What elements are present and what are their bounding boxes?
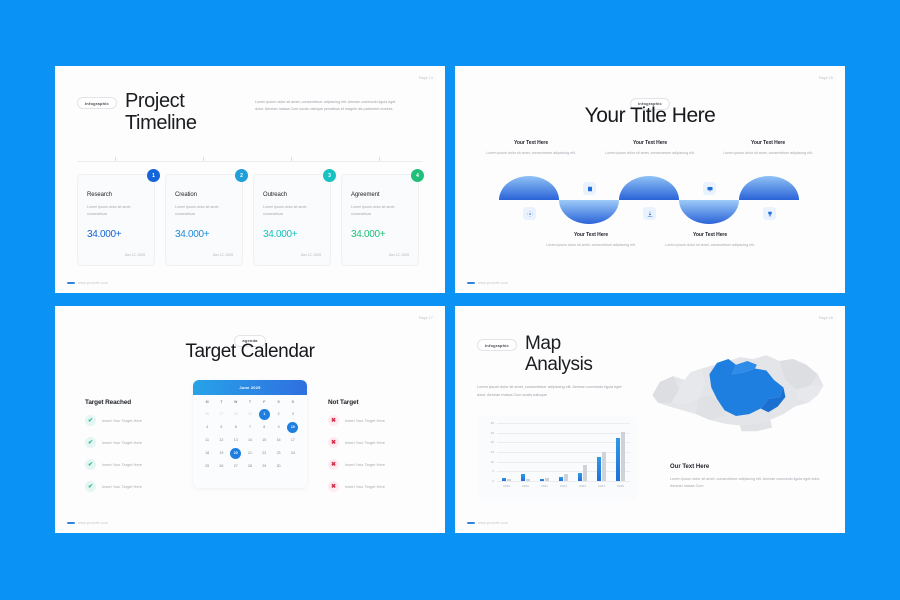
slide-footer: www.yoursite.com xyxy=(67,281,108,285)
check-icon: ✔ xyxy=(85,415,96,426)
calendar-day[interactable]: 22 xyxy=(257,448,271,459)
calendar-widget[interactable]: June 2025 MTWTFSS26272829123456789101112… xyxy=(193,380,307,488)
wave-item-bottom-2: Your Text Here Lorem ipsum dolor sit ame… xyxy=(662,232,758,248)
list-item-label: Insert Your Target Here xyxy=(345,484,385,489)
chart-x-tick-label: 2023 xyxy=(574,484,592,488)
footer-dash-icon xyxy=(67,282,75,284)
footer-dash-icon xyxy=(67,522,75,524)
slide-footer: www.yoursite.com xyxy=(67,521,108,525)
calendar-day-of-week: W xyxy=(229,400,243,407)
monitor-icon[interactable] xyxy=(703,182,716,195)
calendar-day-muted: 28 xyxy=(229,409,243,420)
check-icon: ✔ xyxy=(85,481,96,492)
cross-icon: ✖ xyxy=(328,437,339,448)
calendar-day[interactable]: 29 xyxy=(257,461,271,472)
calendar-day[interactable]: 25 xyxy=(200,461,214,472)
calendar-day[interactable]: 8 xyxy=(257,422,271,433)
calendar-month-label: June 2025 xyxy=(193,380,307,395)
calendar-day[interactable]: 4 xyxy=(200,422,214,433)
card-date: Dec 12, 2025 xyxy=(213,253,233,257)
chart-bar xyxy=(502,478,506,481)
chart-y-tick-label: 15 xyxy=(491,450,494,454)
calendar-day[interactable]: 24 xyxy=(286,448,300,459)
check-icon: ✔ xyxy=(85,437,96,448)
list-item-label: Insert Your Target Here xyxy=(102,440,142,445)
calendar-day-muted: 27 xyxy=(214,409,228,420)
chart-x-tick-label: 2020 xyxy=(517,484,535,488)
calendar-day[interactable]: 30 xyxy=(271,461,285,472)
chart-y-tick-label: 10 xyxy=(491,460,494,464)
calendar-day[interactable]: 23 xyxy=(271,448,285,459)
wave-item-bottom-1: Your Text Here Lorem ipsum dolor sit ame… xyxy=(543,232,639,248)
book-icon[interactable] xyxy=(583,182,596,195)
category-pill: Infographic xyxy=(77,97,117,109)
chart-x-tick-label: 2022 xyxy=(555,484,573,488)
card-date: Dec 12, 2025 xyxy=(301,253,321,257)
cross-icon: ✖ xyxy=(328,481,339,492)
item-heading: Your Text Here xyxy=(720,140,816,146)
chart-y-tick-label: 0 xyxy=(492,479,494,483)
calendar-day-of-week: S xyxy=(286,400,300,407)
calendar-grid[interactable]: MTWTFSS262728291234567891011121314151617… xyxy=(193,395,307,477)
calendar-day-of-week: S xyxy=(271,400,285,407)
calendar-day[interactable]: 21 xyxy=(243,448,257,459)
bar-chart[interactable]: 302520151050 201920202021202220232024202… xyxy=(477,416,637,500)
list-item[interactable]: ✔ Insert Your Target Here xyxy=(85,459,180,470)
chart-bar-group xyxy=(521,423,531,481)
slide-footer: www.yoursite.com xyxy=(467,281,508,285)
chart-bar xyxy=(616,438,620,482)
slide1-header: Infographic Project Timeline xyxy=(77,91,197,134)
calendar-day-selected[interactable]: 1 xyxy=(257,409,271,420)
item-body: Lorem ipsum dolor sit amet, consectetuer… xyxy=(662,242,758,248)
page-title: Target Calendar xyxy=(55,341,445,363)
page-number: Page 18 xyxy=(819,316,833,320)
footer-url: www.yoursite.com xyxy=(478,281,508,285)
intro-paragraph: Lorem ipsum dolor sit amet, consectetuer… xyxy=(477,384,627,399)
chart-bar xyxy=(583,465,587,481)
calendar-day-muted: 29 xyxy=(243,409,257,420)
calendar-day[interactable]: 7 xyxy=(243,422,257,433)
column-heading: Target Reached xyxy=(85,399,180,406)
calendar-day-selected[interactable]: 10 xyxy=(286,422,300,433)
download-icon[interactable] xyxy=(643,207,656,220)
check-icon: ✔ xyxy=(85,459,96,470)
calendar-day[interactable]: 19 xyxy=(214,448,228,459)
timeline-card[interactable]: 4 Agreement Lorem ipsum dolor sit amet, … xyxy=(341,174,419,266)
page-title: Map Analysis xyxy=(525,334,593,376)
category-pill: Infographic xyxy=(477,339,517,351)
calendar-day-of-week: T xyxy=(243,400,257,407)
column-heading: Not Target xyxy=(328,399,423,406)
slide-footer: www.yoursite.com xyxy=(467,521,508,525)
intro-paragraph: Lorem ipsum dolor sit amet, consectetuer… xyxy=(255,99,400,114)
list-item-label: Insert Your Target Here xyxy=(102,484,142,489)
footer-url: www.yoursite.com xyxy=(478,521,508,525)
list-item-label: Insert Your Target Here xyxy=(345,440,385,445)
card-description: Lorem ipsum dolor sit amet, consectetuer xyxy=(263,204,321,217)
card-date: Dec 12, 2025 xyxy=(389,253,409,257)
chart-bar-group xyxy=(578,423,588,481)
calendar-day[interactable]: 15 xyxy=(257,435,271,446)
calendar-day[interactable]: 12 xyxy=(214,435,228,446)
chart-bar-group xyxy=(616,423,626,481)
chart-bar xyxy=(578,473,582,481)
footer-url: www.yoursite.com xyxy=(78,521,108,525)
page-title: Your Title Here xyxy=(455,104,845,128)
item-body: Lorem ipsum dolor sit amet, consectetuer… xyxy=(602,150,698,156)
chart-plot-area: 302520151050 xyxy=(484,423,630,481)
chart-bar-group xyxy=(502,423,512,481)
title-line-2: Timeline xyxy=(125,113,197,135)
cross-icon: ✖ xyxy=(328,415,339,426)
wave-item-top-2: Your Text Here Lorem ipsum dolor sit ame… xyxy=(602,140,698,156)
list-item[interactable]: ✖ Insert Your Target Here xyxy=(328,459,423,470)
calendar-day[interactable]: 18 xyxy=(200,448,214,459)
timeline-card[interactable]: 2 Creation Lorem ipsum dolor sit amet, c… xyxy=(165,174,243,266)
list-item[interactable]: ✖ Insert Your Target Here xyxy=(328,415,423,426)
calendar-day-of-week: F xyxy=(257,400,271,407)
slide-project-timeline[interactable]: Page 14 Infographic Project Timeline Lor… xyxy=(55,66,445,293)
chart-bar xyxy=(521,474,525,481)
title-line-2: Analysis xyxy=(525,355,593,376)
chart-x-tick-label: 2025 xyxy=(612,484,630,488)
switzerland-map[interactable] xyxy=(641,336,831,441)
footer-url: www.yoursite.com xyxy=(78,281,108,285)
calendar-day[interactable]: 5 xyxy=(214,422,228,433)
step-badge: 3 xyxy=(323,169,336,182)
cross-icon: ✖ xyxy=(328,459,339,470)
chart-y-tick-label: 30 xyxy=(491,421,494,425)
title-line-1: Map xyxy=(525,334,593,355)
card-description: Lorem ipsum dolor sit amet, consectetuer xyxy=(351,204,409,217)
chart-y-tick-label: 20 xyxy=(491,440,494,444)
slide4-header: Infographic Map Analysis xyxy=(477,334,593,376)
page-number: Page 17 xyxy=(419,316,433,320)
list-item-label: Insert Your Target Here xyxy=(345,418,385,423)
chart-bar-group xyxy=(597,423,607,481)
step-badge: 4 xyxy=(411,169,424,182)
sub-heading: Our Text Here xyxy=(670,464,709,470)
card-description: Lorem ipsum dolor sit amet, consectetuer xyxy=(87,204,145,217)
chart-bar xyxy=(597,457,601,481)
chart-bar xyxy=(507,479,511,481)
card-metric: 34.000+ xyxy=(87,229,145,240)
calendar-day[interactable]: 6 xyxy=(229,422,243,433)
chart-bar xyxy=(602,452,606,481)
card-title: Outreach xyxy=(263,192,321,198)
page-number: Page 14 xyxy=(419,76,433,80)
calendar-day-muted: 26 xyxy=(200,409,214,420)
chart-x-axis: 2019202020212022202320242025 xyxy=(497,484,630,488)
card-metric: 34.000+ xyxy=(175,229,233,240)
timeline-rule xyxy=(77,161,423,162)
title-line-1: Project xyxy=(125,91,197,113)
chart-x-tick-label: 2021 xyxy=(536,484,554,488)
card-date: Dec 12, 2025 xyxy=(125,253,145,257)
item-body: Lorem ipsum dolor sit amet, consectetuer… xyxy=(720,150,816,156)
list-item-label: Insert Your Target Here xyxy=(102,418,142,423)
list-item[interactable]: ✖ Insert Your Target Here xyxy=(328,481,423,492)
calendar-day[interactable]: 27 xyxy=(229,461,243,472)
item-heading: Your Text Here xyxy=(602,140,698,146)
calendar-day-selected[interactable]: 20 xyxy=(229,448,243,459)
chart-bar-group xyxy=(540,423,550,481)
card-metric: 34.000+ xyxy=(263,229,321,240)
slide-target-calendar[interactable]: Page 17 agenda Target Calendar Target Re… xyxy=(55,306,445,533)
list-item-label: Insert Your Target Here xyxy=(345,462,385,467)
trophy-icon[interactable] xyxy=(763,207,776,220)
calendar-day[interactable]: 2 xyxy=(271,409,285,420)
calendar-day[interactable]: 14 xyxy=(243,435,257,446)
wave-item-top-1: Your Text Here Lorem ipsum dolor sit ame… xyxy=(483,140,579,156)
calendar-day[interactable]: 28 xyxy=(243,461,257,472)
sub-paragraph: Lorem ipsum dolor sit amet, consectetuer… xyxy=(670,476,830,490)
step-badge: 2 xyxy=(235,169,248,182)
card-title: Agreement xyxy=(351,192,409,198)
chart-bar xyxy=(526,479,530,481)
calendar-day[interactable]: 11 xyxy=(200,435,214,446)
page-number: Page 15 xyxy=(819,76,833,80)
card-metric: 34.000+ xyxy=(351,229,409,240)
slide-map-analysis[interactable]: Page 18 Infographic Map Analysis Lorem i… xyxy=(455,306,845,533)
slide-your-title-here[interactable]: Page 15 infographic Your Title Here Your… xyxy=(455,66,845,293)
chart-x-tick-label: 2019 xyxy=(498,484,516,488)
card-title: Research xyxy=(87,192,145,198)
calendar-day[interactable]: 16 xyxy=(271,435,285,446)
calendar-day[interactable]: 3 xyxy=(286,409,300,420)
target-reached-column: Target Reached ✔ Insert Your Target Here… xyxy=(85,399,180,503)
timeline-card[interactable]: 1 Research Lorem ipsum dolor sit amet, c… xyxy=(77,174,155,266)
footer-dash-icon xyxy=(467,282,475,284)
chart-bars xyxy=(497,423,630,481)
calendar-day[interactable]: 13 xyxy=(229,435,243,446)
list-item-label: Insert Your Target Here xyxy=(102,462,142,467)
chart-bar xyxy=(545,478,549,481)
chart-y-axis: 302520151050 xyxy=(484,423,496,481)
chart-gridline xyxy=(497,481,630,482)
step-badge: 1 xyxy=(147,169,160,182)
wave-item-top-3: Your Text Here Lorem ipsum dolor sit ame… xyxy=(720,140,816,156)
slide-deck-preview: Page 14 Infographic Project Timeline Lor… xyxy=(0,0,900,600)
chart-bar xyxy=(559,477,563,481)
settings-icon[interactable] xyxy=(523,207,536,220)
timeline-card-list: 1 Research Lorem ipsum dolor sit amet, c… xyxy=(77,174,419,266)
chart-bar xyxy=(621,432,625,481)
page-title: Project Timeline xyxy=(125,91,197,134)
calendar-day-of-week: T xyxy=(214,400,228,407)
footer-dash-icon xyxy=(467,522,475,524)
chart-bar xyxy=(564,474,568,481)
card-title: Creation xyxy=(175,192,233,198)
list-item[interactable]: ✔ Insert Your Target Here xyxy=(85,481,180,492)
list-item[interactable]: ✔ Insert Your Target Here xyxy=(85,437,180,448)
calendar-day[interactable]: 9 xyxy=(271,422,285,433)
chart-x-tick-label: 2024 xyxy=(593,484,611,488)
card-description: Lorem ipsum dolor sit amet, consectetuer xyxy=(175,204,233,217)
chart-y-tick-label: 25 xyxy=(491,431,494,435)
chart-bar-group xyxy=(559,423,569,481)
list-item[interactable]: ✖ Insert Your Target Here xyxy=(328,437,423,448)
item-heading: Your Text Here xyxy=(662,232,758,238)
item-body: Lorem ipsum dolor sit amet, consectetuer… xyxy=(483,150,579,156)
item-body: Lorem ipsum dolor sit amet, consectetuer… xyxy=(543,242,639,248)
timeline-card[interactable]: 3 Outreach Lorem ipsum dolor sit amet, c… xyxy=(253,174,331,266)
list-item[interactable]: ✔ Insert Your Target Here xyxy=(85,415,180,426)
item-heading: Your Text Here xyxy=(483,140,579,146)
calendar-day[interactable]: 17 xyxy=(286,435,300,446)
item-heading: Your Text Here xyxy=(543,232,639,238)
not-target-column: Not Target ✖ Insert Your Target Here ✖ I… xyxy=(328,399,423,503)
calendar-day-of-week: M xyxy=(200,400,214,407)
calendar-day[interactable]: 26 xyxy=(214,461,228,472)
chart-y-tick-label: 5 xyxy=(492,469,494,473)
chart-bar xyxy=(540,479,544,481)
